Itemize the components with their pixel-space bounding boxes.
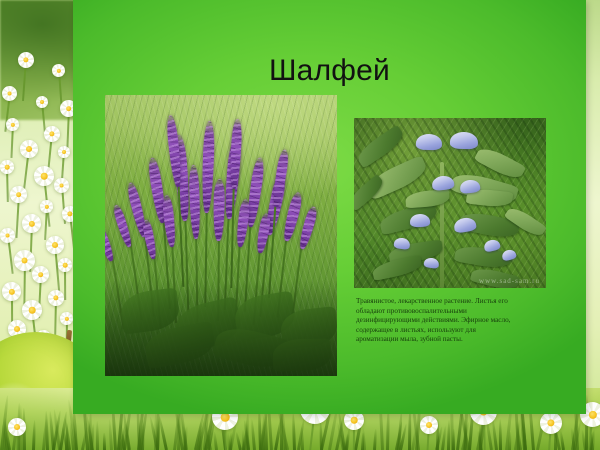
daisy-flower-icon (0, 160, 14, 174)
daisy-core (5, 165, 10, 170)
grass-blade (96, 421, 99, 450)
daisy-core (21, 257, 28, 264)
daisy-flower-icon (20, 140, 38, 158)
grass-blade (452, 429, 455, 450)
grass-blade (362, 428, 366, 450)
grass-blade (65, 423, 69, 450)
photo-sage-meadow (105, 95, 337, 376)
daisy-core (40, 100, 44, 104)
presentation-slide: Шалфей www.sad-sam.ru Травянистое, лекар… (0, 0, 600, 450)
caption-line: содержащее в листьях, используют для (356, 326, 554, 336)
daisy-flower-icon (34, 166, 54, 186)
caption-line: Травянистое, лекарственное растение. Лис… (356, 297, 554, 307)
daisy-flower-icon (58, 146, 70, 158)
grass-blade (386, 408, 390, 450)
daisy-flower-icon (2, 282, 21, 301)
daisy-flower-icon (32, 266, 49, 283)
daisy-flower-icon (10, 186, 27, 203)
caption-line: обладают противовоспалительными (356, 307, 554, 317)
meadow-shadow-layer (105, 280, 337, 376)
page-title: Шалфей (73, 54, 586, 88)
bottom-daisy-icon (540, 412, 562, 434)
daisy-core (66, 106, 72, 112)
daisy-core (59, 183, 64, 188)
grass-blade (499, 419, 502, 450)
daisy-flower-icon (46, 236, 64, 254)
grass-blade (102, 433, 105, 450)
daisy-core (41, 173, 48, 180)
daisy-core (351, 417, 358, 424)
daisy-core (63, 263, 68, 268)
daisy-flower-icon (58, 258, 72, 272)
daisy-flower-icon (22, 214, 41, 233)
daisy-flower-icon (44, 126, 60, 142)
caption-line: дезинфицирующими действиями. Эфирное мас… (356, 316, 554, 326)
daisy-flower-icon (2, 86, 17, 101)
caption-text-block: Травянистое, лекарственное растение. Лис… (356, 297, 554, 345)
sage-flower (450, 132, 478, 150)
bottom-daisy-icon (8, 418, 26, 436)
grass-blade (464, 419, 467, 450)
bottom-daisy-icon (420, 416, 438, 434)
daisy-flower-icon (40, 200, 53, 213)
grass-blade (373, 429, 377, 450)
daisy-core (16, 192, 22, 198)
daisy-core (14, 424, 20, 430)
photo-watermark: www.sad-sam.ru (479, 277, 540, 285)
photo-sage-closeup: www.sad-sam.ru (354, 118, 546, 288)
daisy-flower-icon (22, 300, 42, 320)
daisy-flower-icon (0, 228, 15, 243)
daisy-core (62, 150, 66, 154)
grass-blade (447, 420, 451, 450)
daisy-core (7, 91, 12, 96)
daisy-flower-icon (36, 96, 48, 108)
daisy-flower-icon (18, 52, 34, 68)
sage-flower (410, 214, 430, 227)
sage-flower (416, 134, 442, 151)
daisy-core (5, 233, 10, 238)
grass-blade (292, 412, 296, 450)
daisy-flower-icon (54, 178, 69, 193)
daisy-core (14, 326, 20, 332)
daisy-flower-icon (48, 290, 64, 306)
daisy-core (29, 307, 36, 314)
grass-blade (250, 419, 256, 450)
daisy-core (38, 272, 44, 278)
daisy-flower-icon (6, 118, 19, 131)
daisy-core (426, 422, 432, 428)
daisy-flower-icon (60, 312, 73, 325)
slide-content-panel: Шалфей www.sad-sam.ru Травянистое, лекар… (73, 0, 586, 414)
daisy-flower-icon (52, 64, 65, 77)
daisy-core (52, 242, 58, 248)
grass-blade (32, 420, 36, 450)
daisy-core (26, 146, 32, 152)
caption-line: ароматизации мыла, зубной пасты. (356, 335, 554, 345)
grass-blade (213, 432, 218, 450)
